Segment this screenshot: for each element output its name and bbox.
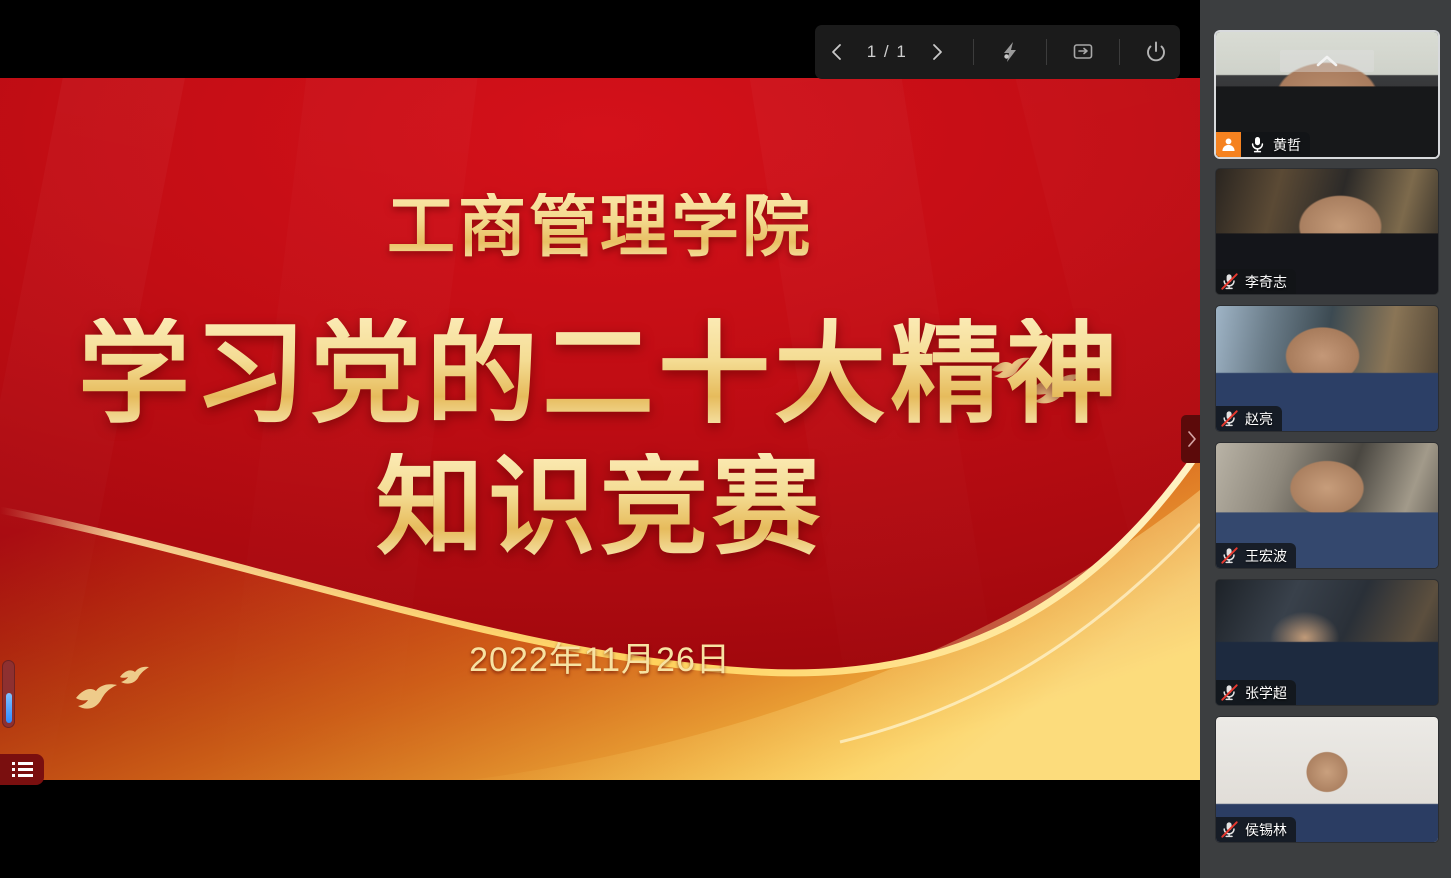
pagination-group: 1 / 1 xyxy=(815,30,959,74)
slide-zoom-slider[interactable] xyxy=(2,660,15,728)
participant-name-bar: 张学超 xyxy=(1216,680,1296,705)
microphone-muted-icon xyxy=(1221,821,1238,838)
presentation-slide: 工商管理学院 学习党的二十大精神 知识竞赛 2022年11月26日 xyxy=(0,78,1200,780)
participant-name: 黄哲 xyxy=(1273,135,1301,155)
share-control-toolbar: 1 / 1 xyxy=(815,25,1180,79)
mute-indicator[interactable] xyxy=(1218,821,1240,838)
scroll-up-button[interactable] xyxy=(1280,50,1374,72)
slide-organization-title: 工商管理学院 xyxy=(0,193,1200,261)
participant-name: 侯锡林 xyxy=(1245,820,1287,840)
unmute-indicator[interactable] xyxy=(1246,136,1268,153)
microphone-muted-icon xyxy=(1221,684,1238,701)
participant-name-bar: 赵亮 xyxy=(1216,406,1282,431)
participant-name-bar: 王宏波 xyxy=(1216,543,1296,568)
chevron-left-icon xyxy=(826,41,848,63)
participant-name: 李奇志 xyxy=(1245,272,1287,292)
microphone-muted-icon xyxy=(1221,273,1238,290)
shared-screen-stage: 工商管理学院 学习党的二十大精神 知识竞赛 2022年11月26日 1 / 1 xyxy=(0,0,1200,878)
prev-slide-button[interactable] xyxy=(815,30,859,74)
participant-name-bar: 李奇志 xyxy=(1216,269,1296,294)
slide-headline-line1: 学习党的二十大精神 xyxy=(0,318,1200,430)
participant-name-bar: 黄哲 xyxy=(1216,132,1310,157)
participant-name: 王宏波 xyxy=(1245,546,1287,566)
participant-tile[interactable]: 侯锡林 xyxy=(1216,717,1438,842)
slide-list-button[interactable] xyxy=(0,754,44,785)
toolbar-divider xyxy=(973,39,974,65)
annotate-frame-icon xyxy=(1071,40,1095,64)
slider-fill xyxy=(6,693,12,723)
mute-indicator[interactable] xyxy=(1218,410,1240,427)
microphone-muted-icon xyxy=(1221,410,1238,427)
chevron-right-icon xyxy=(1186,429,1198,449)
mute-indicator[interactable] xyxy=(1218,273,1240,290)
participant-name-bar: 侯锡林 xyxy=(1216,817,1296,842)
participant-tile[interactable]: 黄哲 xyxy=(1216,32,1438,157)
toolbar-divider xyxy=(1119,39,1120,65)
chevron-right-icon xyxy=(926,41,948,63)
microphone-icon xyxy=(1250,136,1265,153)
host-person-icon xyxy=(1221,137,1236,152)
page-indicator: 1 / 1 xyxy=(859,42,915,62)
participant-name: 张学超 xyxy=(1245,683,1287,703)
laser-pointer-icon xyxy=(998,40,1022,64)
mute-indicator[interactable] xyxy=(1218,547,1240,564)
microphone-muted-icon xyxy=(1221,547,1238,564)
power-icon xyxy=(1144,40,1168,64)
laser-pointer-button[interactable] xyxy=(988,30,1032,74)
toolbar-divider xyxy=(1046,39,1047,65)
participant-name: 赵亮 xyxy=(1245,409,1273,429)
end-share-button[interactable] xyxy=(1134,30,1178,74)
dove-icon xyxy=(74,684,118,716)
host-badge xyxy=(1216,132,1241,157)
participant-tile[interactable]: 张学超 xyxy=(1216,580,1438,705)
meeting-screen-share-window: 工商管理学院 学习党的二十大精神 知识竞赛 2022年11月26日 1 / 1 xyxy=(0,0,1451,878)
participant-tile[interactable]: 李奇志 xyxy=(1216,169,1438,294)
slide-date: 2022年11月26日 xyxy=(0,643,1200,677)
annotation-button[interactable] xyxy=(1061,30,1105,74)
mute-indicator[interactable] xyxy=(1218,684,1240,701)
participant-video-rail: 黄哲 李奇志 赵亮 王宏波 张学超 侯锡林 xyxy=(1200,0,1451,878)
participant-tile[interactable]: 赵亮 xyxy=(1216,306,1438,431)
slide-headline-line2: 知识竞赛 xyxy=(0,453,1200,561)
chevron-up-icon xyxy=(1316,55,1338,67)
list-icon xyxy=(12,761,33,778)
participant-tile[interactable]: 王宏波 xyxy=(1216,443,1438,568)
next-slide-button[interactable] xyxy=(915,30,959,74)
